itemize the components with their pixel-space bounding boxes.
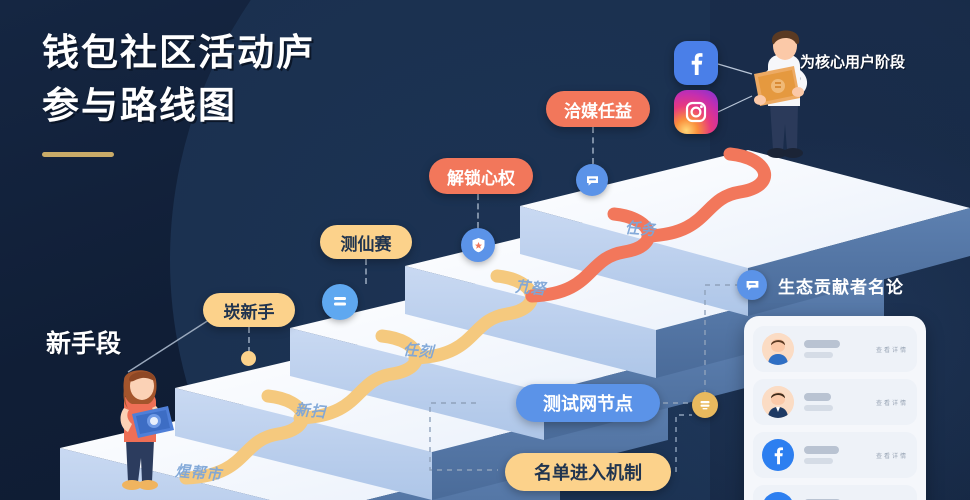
list-item-tag[interactable]: 查看详情 xyxy=(876,398,908,407)
pill-testnet-node[interactable]: 测试网节点 xyxy=(516,384,660,422)
badge-icon-glyph xyxy=(470,236,487,254)
facebook-avatar xyxy=(762,492,794,500)
title-line-1: 钱包社区活动庐 xyxy=(42,26,315,79)
list-item[interactable]: 查看详情 xyxy=(753,379,917,425)
pill-novice[interactable]: 崁新手 xyxy=(203,293,295,327)
list-item-sub-masked xyxy=(804,458,833,464)
stage-label-right: 为核心用户阶段 xyxy=(800,51,905,72)
list-item-name-masked xyxy=(804,446,839,454)
list-icon[interactable] xyxy=(322,284,358,320)
person-avatar xyxy=(762,333,794,365)
facebook-avatar xyxy=(762,439,794,471)
list-item[interactable]: 查看详情 xyxy=(753,485,917,500)
facebook-icon-glyph xyxy=(683,50,709,76)
person-avatar-glyph xyxy=(762,333,794,365)
facebook-icon[interactable] xyxy=(674,41,718,85)
contributors-card: 查看详情 查看详情 xyxy=(744,316,926,500)
instagram-icon[interactable] xyxy=(674,90,718,134)
woman-with-laptop xyxy=(96,362,188,494)
badge-icon[interactable] xyxy=(461,228,495,262)
list-item-tag[interactable]: 查看详情 xyxy=(876,345,908,354)
person-avatar-glyph xyxy=(762,386,794,418)
infographic-canvas: 钱包社区活动庐 参与路线图 xyxy=(0,0,970,500)
list-item-info xyxy=(804,393,866,411)
list-item[interactable]: 查看详情 xyxy=(753,326,917,372)
pill-stem-3 xyxy=(477,194,479,228)
title-underline-rule xyxy=(42,152,114,157)
pill-unlock-rights[interactable]: 解锁心权 xyxy=(429,158,533,194)
list-item-info xyxy=(804,446,866,464)
man-with-tablet xyxy=(740,24,832,164)
list-item-name-masked xyxy=(804,393,831,401)
tread-label-3: 任刻 xyxy=(401,339,438,363)
document-node-icon[interactable] xyxy=(692,392,718,418)
list-item-sub-masked xyxy=(804,352,833,358)
pill-stem-2 xyxy=(365,259,367,284)
pill-test-contest[interactable]: 测仙赛 xyxy=(320,225,412,259)
chat-icon-glyph xyxy=(584,172,601,189)
chat-icon[interactable] xyxy=(576,164,608,196)
stage-label-left: 新手段 xyxy=(46,324,121,360)
contributors-heading-text: 生态贡献者名论 xyxy=(778,273,904,298)
contributors-heading: 生态贡献者名论 xyxy=(737,270,904,300)
chat-bubble-icon xyxy=(737,270,767,300)
list-item[interactable]: 查看详情 xyxy=(753,432,917,478)
pill-stem-1 xyxy=(248,327,250,353)
tread-label-5: 任务 xyxy=(623,217,660,241)
tread-label-4: 芁砮 xyxy=(513,276,550,300)
pill-media-task[interactable]: 洽媒任益 xyxy=(546,91,650,127)
pill-stem-4 xyxy=(592,127,594,164)
document-node-glyph xyxy=(698,398,712,412)
pill-stem-dot-1 xyxy=(241,351,256,366)
tread-label-2: 新扫 xyxy=(293,399,330,423)
person-avatar xyxy=(762,386,794,418)
list-icon-glyph xyxy=(331,293,349,311)
chat-bubble-glyph xyxy=(744,277,761,294)
list-item-info xyxy=(804,340,866,358)
instagram-icon-glyph xyxy=(683,99,709,125)
facebook-avatar-glyph xyxy=(768,445,788,465)
page-title: 钱包社区活动庐 参与路线图 xyxy=(42,26,315,157)
title-line-2: 参与路线图 xyxy=(42,79,315,132)
list-item-name-masked xyxy=(804,340,840,348)
list-item-tag[interactable]: 查看详情 xyxy=(876,451,908,460)
list-item-sub-masked xyxy=(804,405,833,411)
pill-whitelist-mechanism[interactable]: 名单进入机制 xyxy=(505,453,671,491)
